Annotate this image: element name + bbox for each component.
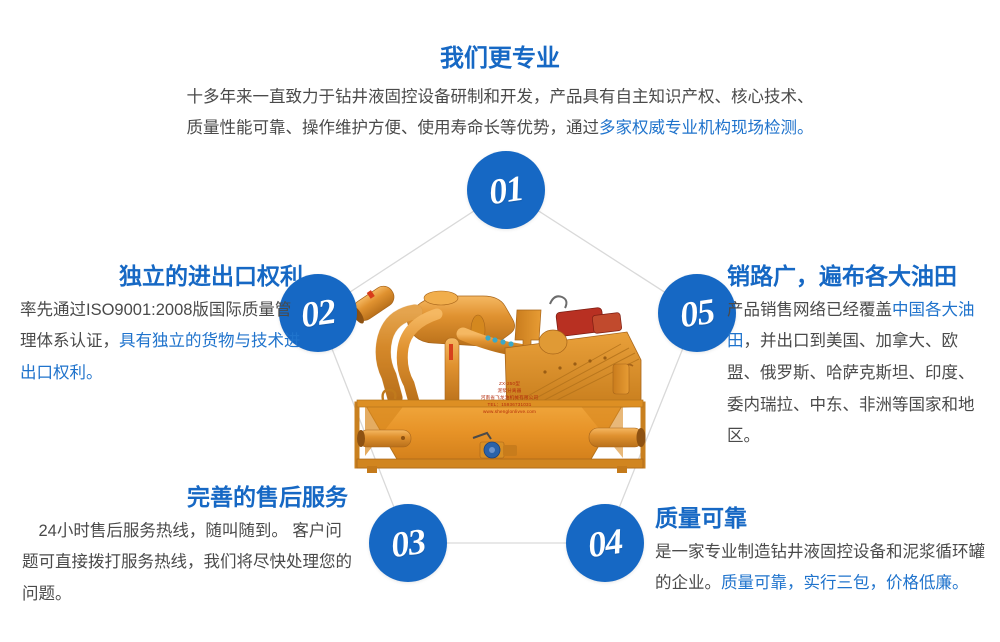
step-number-03: 03 <box>389 523 428 563</box>
feature-title-sales-network: 销路广，遍布各大油田 <box>727 263 989 291</box>
feature-block-after-sales: 完善的售后服务 24小时售后服务热线，随叫随到。 客户问题可直接拨打服务热线，我… <box>22 484 352 611</box>
feature-body-quality: 是一家专业制造钻井液固控设备和泥浆循环罐的企业。质量可靠，实行三包，价格低廉。 <box>655 537 985 600</box>
step-circle-04[interactable]: 04 <box>566 504 644 582</box>
feature-body-line2-highlight: 多家权威专业机构现场检测。 <box>599 119 814 137</box>
feature-body-professional: 十多年来一直致力于钻井液固控设备研制和开发，产品具有自主知识产权、核心技术、 质… <box>150 82 850 145</box>
feature-title-import-export: 独立的进出口权利 <box>20 263 305 291</box>
feature-block-sales-network: 销路广，遍布各大油田 产品销售网络已经覆盖中国各大油田，并出口到美国、加拿大、欧… <box>727 263 989 453</box>
feature-block-professional: 我们更专业 十多年来一直致力于钻井液固控设备研制和开发，产品具有自主知识产权、核… <box>150 45 850 145</box>
feature-title-quality: 质量可靠 <box>655 505 985 533</box>
feature-title-after-sales: 完善的售后服务 <box>22 484 352 512</box>
step-number-05: 05 <box>678 293 717 333</box>
quality-highlight: 质量可靠，实行三包，价格低廉。 <box>721 574 969 592</box>
step-circle-03[interactable]: 03 <box>369 504 447 582</box>
sales-network-plain-2: ，并出口到美国、加拿大、欧盟、俄罗斯、哈萨克斯坦、印度、委内瑞拉、中东、非洲等国… <box>727 332 975 445</box>
feature-title-professional: 我们更专业 <box>150 45 850 74</box>
feature-body-line2: 质量性能可靠、操作维护方便、使用寿命长等优势，通过 <box>187 119 600 137</box>
step-circle-05[interactable]: 05 <box>658 274 736 352</box>
infographic-canvas: ZX-250型 泥浆分离器 河南省飞龙油机械有限公司 TEL：159367310… <box>0 0 1000 642</box>
machine-illustration <box>345 252 655 482</box>
step-number-04: 04 <box>586 523 625 563</box>
feature-block-import-export: 独立的进出口权利 率先通过ISO9001:2008版国际质量管理体系认证，具有独… <box>20 263 305 390</box>
step-number-01: 01 <box>487 170 526 210</box>
step-circle-01[interactable]: 01 <box>467 151 545 229</box>
feature-body-after-sales: 24小时售后服务热线，随叫随到。 客户问题可直接拨打服务热线，我们将尽快处理您的… <box>22 516 352 611</box>
product-machine-image: ZX-250型 泥浆分离器 河南省飞龙油机械有限公司 TEL：159367310… <box>345 252 655 482</box>
feature-body-sales-network: 产品销售网络已经覆盖中国各大油田，并出口到美国、加拿大、欧盟、俄罗斯、哈萨克斯坦… <box>727 295 989 453</box>
feature-body-line1: 十多年来一直致力于钻井液固控设备研制和开发，产品具有自主知识产权、核心技术、 <box>187 88 814 106</box>
feature-block-quality: 质量可靠 是一家专业制造钻井液固控设备和泥浆循环罐的企业。质量可靠，实行三包，价… <box>655 505 985 600</box>
feature-body-import-export: 率先通过ISO9001:2008版国际质量管理体系认证，具有独立的货物与技术进出… <box>20 295 305 390</box>
sales-network-plain-1: 产品销售网络已经覆盖 <box>727 301 892 319</box>
